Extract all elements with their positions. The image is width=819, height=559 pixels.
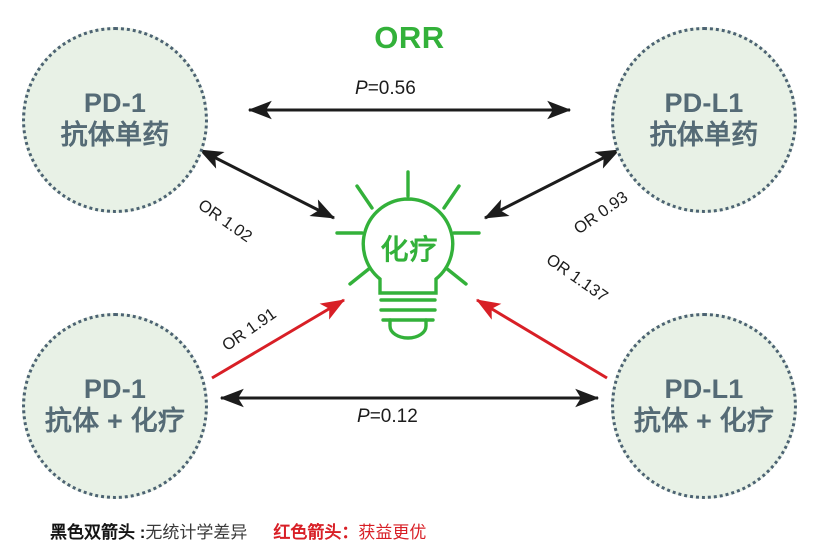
pvalue-bottom: P=0.12	[357, 406, 418, 428]
pvalue-top: P=0.56	[355, 78, 416, 100]
pvalue-top-value: =0.56	[368, 78, 416, 99]
pvalue-bottom-symbol: P	[357, 406, 370, 427]
legend-item-black: 黑色双箭头 : 无统计学差异	[50, 518, 247, 543]
node-pdl1-chemo-line1: PD-L1	[664, 374, 743, 406]
node-pd1-mono-line2: 抗体单药	[61, 120, 170, 152]
node-pd1-chemo-line2: 抗体 + 化疗	[45, 406, 185, 438]
node-pd1-chemo[interactable]: PD-1 抗体 + 化疗	[22, 313, 208, 499]
node-pdl1-chemo-line2: 抗体 + 化疗	[634, 406, 774, 438]
arrow-bottom-right-diagonal	[477, 300, 607, 378]
legend-red-key: 红色箭头：	[273, 518, 358, 543]
node-pd1-mono-line1: PD-1	[84, 88, 146, 120]
node-pd1-mono[interactable]: PD-1 抗体单药	[22, 27, 208, 213]
legend-black-key: 黑色双箭头 :	[50, 518, 145, 543]
node-pdl1-mono[interactable]: PD-L1 抗体单药	[611, 27, 797, 213]
node-pd1-chemo-line1: PD-1	[84, 374, 146, 406]
node-pdl1-mono-line1: PD-L1	[664, 88, 743, 120]
legend-item-red: 红色箭头： 获益更优	[273, 518, 426, 543]
diagram-canvas: ORR	[0, 0, 819, 559]
pvalue-bottom-value: =0.12	[370, 406, 418, 427]
center-node-label: 化疗	[0, 228, 819, 268]
center-node-text: 化疗	[380, 234, 438, 265]
legend-black-value: 无统计学差异	[145, 518, 247, 543]
node-pdl1-mono-line2: 抗体单药	[650, 120, 759, 152]
legend: 黑色双箭头 : 无统计学差异 红色箭头： 获益更优	[50, 518, 426, 543]
node-pdl1-chemo[interactable]: PD-L1 抗体 + 化疗	[611, 313, 797, 499]
legend-red-value: 获益更优	[358, 518, 426, 543]
pvalue-top-symbol: P	[355, 78, 368, 99]
